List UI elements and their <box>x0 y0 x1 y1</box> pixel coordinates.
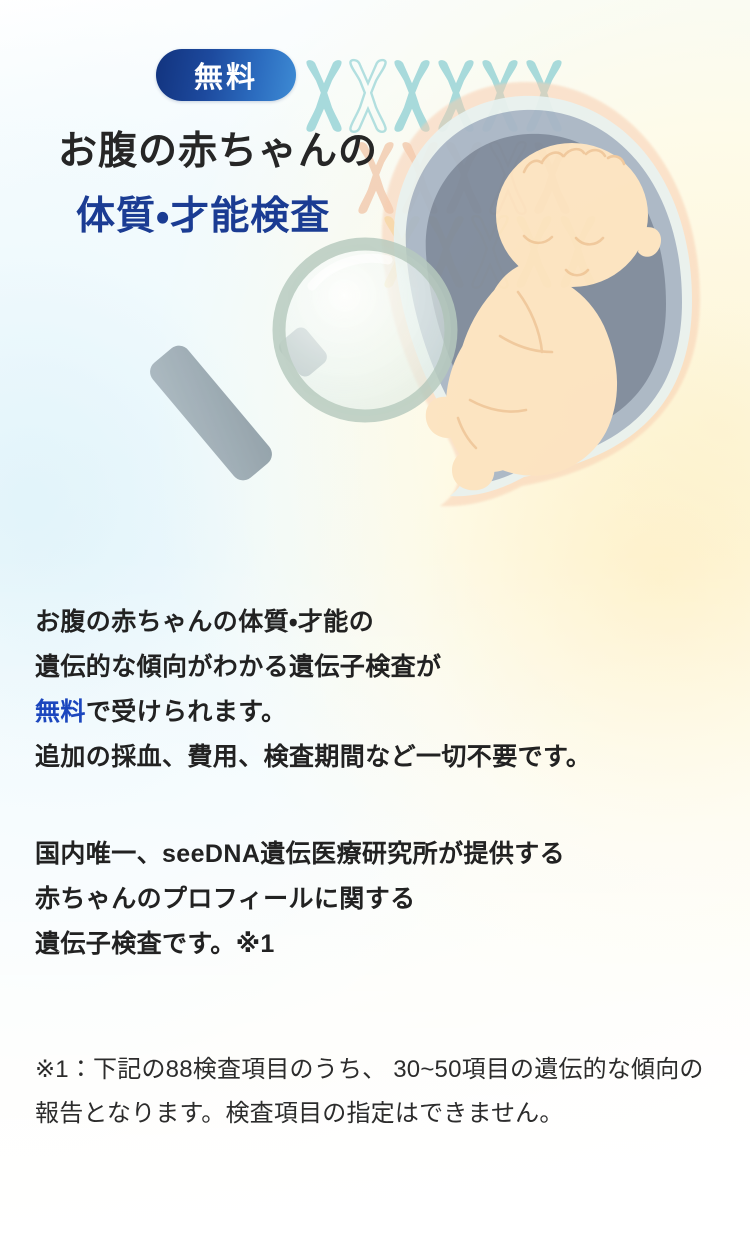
baby-foot-lower <box>452 450 494 491</box>
free-highlight: 無料 <box>35 698 86 726</box>
badge-row: 無料 <box>156 49 296 101</box>
body-line-1: お腹の赤ちゃんの体質・才能の <box>35 600 725 645</box>
page-root: 無料 お腹の赤ちゃんの 体質・才能検査 お腹の赤ちゃんの体質・才能の 遺伝的な傾… <box>0 0 750 1252</box>
body-line-4: 追加の採血、費用、検査期間など一切不要です。 <box>35 735 725 780</box>
footnote-text: ※1：下記の88検査項目のうち、 30~50項目の遺伝的な傾向の報告となります。… <box>35 1048 725 1136</box>
body-line-5: 国内唯一、seeDNA遺伝医療研究所が提供する <box>35 832 725 877</box>
paragraph-provider: 国内唯一、seeDNA遺伝医療研究所が提供する 赤ちゃんのプロフィールに関する … <box>35 832 725 967</box>
magnifier-handle <box>145 341 277 485</box>
body-line-7: 遺伝子検査です。※1 <box>35 922 725 967</box>
body-line-3: 無料で受けられます。 <box>35 690 725 735</box>
baby-foot <box>426 397 467 438</box>
body-line-2: 遺伝的な傾向がわかる遺伝子検査が <box>35 645 725 690</box>
page-title-line-1: お腹の赤ちゃんの <box>58 120 378 176</box>
magnifier-icon <box>145 244 451 485</box>
page-title-line-2: 体質・才能検査 <box>76 185 330 241</box>
free-badge: 無料 <box>156 49 296 101</box>
body-line-6: 赤ちゃんのプロフィールに関する <box>35 877 725 922</box>
body-copy: お腹の赤ちゃんの体質・才能の 遺伝的な傾向がわかる遺伝子検査が 無料で受けられま… <box>35 600 725 967</box>
body-line-3-rest: で受けられます。 <box>86 698 287 726</box>
baby-head <box>496 143 648 287</box>
paragraph-spacer <box>35 780 725 832</box>
paragraph-intro: お腹の赤ちゃんの体質・才能の 遺伝的な傾向がわかる遺伝子検査が 無料で受けられま… <box>35 600 725 780</box>
hero-illustration <box>0 0 750 560</box>
